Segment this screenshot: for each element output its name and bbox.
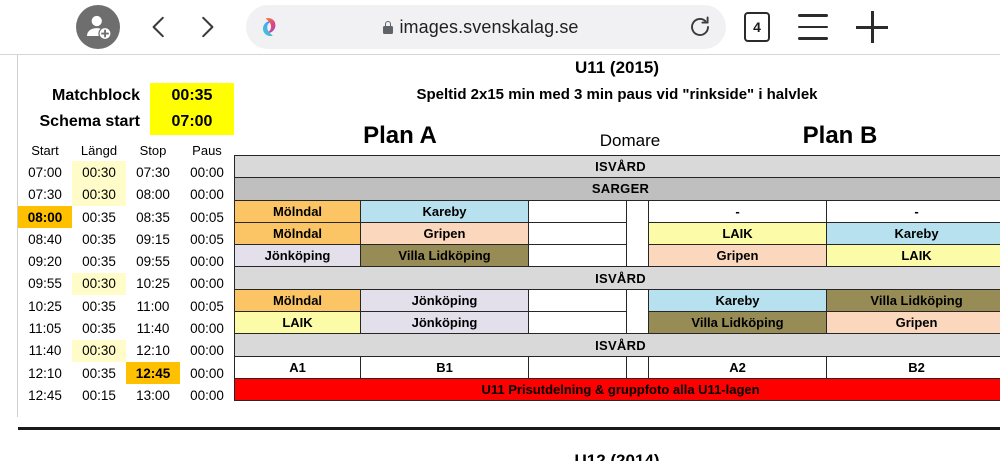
time-table-body: 07:0000:3007:3000:0007:3000:3008:0000:00… bbox=[18, 161, 234, 406]
divider-cell bbox=[627, 289, 649, 311]
schedule-title: U11 (2015) bbox=[234, 58, 1000, 78]
time-table-header-row: StartLängdStopPaus bbox=[18, 139, 234, 161]
time-cell-start: 08:00 bbox=[18, 206, 72, 228]
time-table-row: 07:0000:3007:3000:00 bbox=[18, 161, 234, 183]
time-cell-langd: 00:35 bbox=[72, 250, 126, 272]
profile-add-icon[interactable] bbox=[76, 5, 120, 49]
matchblock-label: Matchblock bbox=[22, 87, 150, 105]
hamburger-menu-icon[interactable] bbox=[798, 14, 828, 40]
plan-b-label: Plan B bbox=[740, 122, 940, 150]
match-row: JönköpingVilla LidköpingGripenLAIK bbox=[235, 245, 1000, 267]
plan-b-home: Villa Lidköping bbox=[649, 312, 827, 334]
time-cell-paus: 00:00 bbox=[180, 362, 234, 384]
plan-b-home: - bbox=[649, 200, 827, 222]
divider-cell bbox=[627, 245, 649, 267]
match-row: MölndalJönköpingKarebyVilla Lidköping bbox=[235, 289, 1000, 311]
time-cell-paus: 00:00 bbox=[180, 340, 234, 362]
copilot-icon[interactable] bbox=[258, 15, 282, 39]
time-cell-stop: 11:40 bbox=[126, 317, 180, 339]
time-table-row: 10:2500:3511:0000:05 bbox=[18, 295, 234, 317]
time-cell-start: 11:40 bbox=[18, 340, 72, 362]
band-row: ISVÅRD bbox=[235, 334, 1000, 356]
plan-a-home: Jönköping bbox=[235, 245, 361, 267]
time-cell-paus: 00:00 bbox=[180, 273, 234, 295]
section-divider bbox=[18, 427, 1000, 430]
time-cell-start: 09:55 bbox=[18, 273, 72, 295]
band-label: ISVÅRD bbox=[235, 334, 1000, 356]
time-cell-paus: 00:05 bbox=[180, 206, 234, 228]
plan-a-home: A1 bbox=[235, 356, 361, 378]
time-table-row: 11:0500:3511:4000:00 bbox=[18, 317, 234, 339]
plan-b-away: Kareby bbox=[827, 222, 1000, 244]
browser-toolbar: images.svenskalag.se 4 bbox=[0, 0, 1000, 55]
plus-icon[interactable] bbox=[856, 11, 888, 43]
time-table: StartLängdStopPaus 07:0000:3007:3000:000… bbox=[18, 139, 234, 407]
time-cell-start: 08:40 bbox=[18, 228, 72, 250]
time-cell-stop: 12:10 bbox=[126, 340, 180, 362]
time-table-row: 09:5500:3010:2500:00 bbox=[18, 273, 234, 295]
time-table-header-1: Längd bbox=[72, 139, 126, 161]
time-cell-paus: 00:00 bbox=[180, 184, 234, 206]
time-table-row: 12:1000:3512:4500:00 bbox=[18, 362, 234, 384]
plan-b-home: LAIK bbox=[649, 222, 827, 244]
match-row: MölndalGripenLAIKKareby bbox=[235, 222, 1000, 244]
time-cell-stop: 12:45 bbox=[126, 362, 180, 384]
plan-b-away: LAIK bbox=[827, 245, 1000, 267]
time-cell-paus: 00:00 bbox=[180, 317, 234, 339]
band-label: SARGER bbox=[235, 178, 1000, 200]
domare-label: Domare bbox=[560, 131, 700, 151]
matchblock-value: 00:35 bbox=[150, 83, 234, 109]
address-bar[interactable]: images.svenskalag.se bbox=[246, 5, 726, 49]
plan-a-label: Plan A bbox=[300, 122, 500, 150]
schedule-grid-body: ISVÅRDSARGERMölndalKareby--MölndalGripen… bbox=[235, 156, 1000, 401]
plan-b-away: - bbox=[827, 200, 1000, 222]
time-table-row: 07:3000:3008:0000:00 bbox=[18, 184, 234, 206]
time-cell-stop: 11:00 bbox=[126, 295, 180, 317]
plan-b-away: Gripen bbox=[827, 312, 1000, 334]
time-table-row: 11:4000:3012:1000:00 bbox=[18, 340, 234, 362]
time-table-row: 09:2000:3509:5500:00 bbox=[18, 250, 234, 272]
time-cell-langd: 00:35 bbox=[72, 317, 126, 339]
time-cell-langd: 00:35 bbox=[72, 228, 126, 250]
matchblock-row: Matchblock 00:35 bbox=[22, 83, 234, 109]
chevron-right-icon[interactable] bbox=[192, 12, 222, 42]
plan-b-away: B2 bbox=[827, 356, 1000, 378]
domare-cell bbox=[529, 245, 627, 267]
match-row: A1B1A2B2 bbox=[235, 356, 1000, 378]
schedule-grid: ISVÅRDSARGERMölndalKareby--MölndalGripen… bbox=[234, 155, 1000, 401]
plan-a-home: Mölndal bbox=[235, 200, 361, 222]
domare-cell bbox=[529, 312, 627, 334]
time-cell-paus: 00:00 bbox=[180, 384, 234, 406]
time-table-header-2: Stop bbox=[126, 139, 180, 161]
time-cell-langd: 00:30 bbox=[72, 184, 126, 206]
time-cell-langd: 00:35 bbox=[72, 206, 126, 228]
plan-b-home: A2 bbox=[649, 356, 827, 378]
time-cell-paus: 00:05 bbox=[180, 228, 234, 250]
domare-cell bbox=[529, 356, 627, 378]
plan-a-away: Jönköping bbox=[361, 289, 529, 311]
divider-cell bbox=[627, 312, 649, 334]
plan-a-home: LAIK bbox=[235, 312, 361, 334]
time-table-row: 08:0000:3508:3500:05 bbox=[18, 206, 234, 228]
time-cell-stop: 13:00 bbox=[126, 384, 180, 406]
time-cell-langd: 00:30 bbox=[72, 161, 126, 183]
plan-a-home: Mölndal bbox=[235, 289, 361, 311]
time-cell-langd: 00:30 bbox=[72, 340, 126, 362]
page-content: Matchblock 00:35 Schema start 07:00 Star… bbox=[0, 55, 1000, 461]
tab-count-button[interactable]: 4 bbox=[744, 12, 770, 42]
time-cell-stop: 07:30 bbox=[126, 161, 180, 183]
time-cell-paus: 00:00 bbox=[180, 161, 234, 183]
reload-icon[interactable] bbox=[680, 7, 720, 47]
time-cell-start: 11:05 bbox=[18, 317, 72, 339]
ceremony-label: U11 Prisutdelning & gruppfoto alla U11-l… bbox=[235, 378, 1000, 400]
time-table-header-3: Paus bbox=[180, 139, 234, 161]
summary-block: Matchblock 00:35 Schema start 07:00 bbox=[22, 83, 234, 135]
plan-a-home: Mölndal bbox=[235, 222, 361, 244]
time-cell-langd: 00:15 bbox=[72, 384, 126, 406]
band-row: ISVÅRD bbox=[235, 156, 1000, 178]
time-cell-paus: 00:05 bbox=[180, 295, 234, 317]
time-cell-langd: 00:35 bbox=[72, 295, 126, 317]
plan-a-away: Villa Lidköping bbox=[361, 245, 529, 267]
next-section-title: U12 (2014) bbox=[234, 451, 1000, 461]
time-cell-stop: 08:35 bbox=[126, 206, 180, 228]
domare-cell bbox=[529, 222, 627, 244]
domare-cell bbox=[529, 200, 627, 222]
match-row: LAIKJönköpingVilla LidköpingGripen bbox=[235, 312, 1000, 334]
band-row: ISVÅRD bbox=[235, 267, 1000, 289]
match-row: MölndalKareby-- bbox=[235, 200, 1000, 222]
divider-cell bbox=[627, 356, 649, 378]
domare-cell bbox=[529, 289, 627, 311]
time-cell-start: 12:45 bbox=[18, 384, 72, 406]
time-cell-start: 12:10 bbox=[18, 362, 72, 384]
band-label: ISVÅRD bbox=[235, 156, 1000, 178]
band-label: ISVÅRD bbox=[235, 267, 1000, 289]
divider-cell bbox=[627, 222, 649, 244]
chevron-left-icon[interactable] bbox=[144, 12, 174, 42]
divider-cell bbox=[627, 200, 649, 222]
time-cell-start: 07:00 bbox=[18, 161, 72, 183]
schedule-subtitle: Speltid 2x15 min med 3 min paus vid "rin… bbox=[234, 86, 1000, 103]
plan-a-away: Kareby bbox=[361, 200, 529, 222]
time-table-row: 08:4000:3509:1500:05 bbox=[18, 228, 234, 250]
time-cell-start: 09:20 bbox=[18, 250, 72, 272]
plan-a-away: Gripen bbox=[361, 222, 529, 244]
plan-b-home: Gripen bbox=[649, 245, 827, 267]
time-cell-start: 07:30 bbox=[18, 184, 72, 206]
url-text[interactable]: images.svenskalag.se bbox=[399, 17, 578, 38]
lock-icon bbox=[383, 21, 393, 34]
plan-b-home: Kareby bbox=[649, 289, 827, 311]
plan-b-away: Villa Lidköping bbox=[827, 289, 1000, 311]
band-row: SARGER bbox=[235, 178, 1000, 200]
time-cell-langd: 00:35 bbox=[72, 362, 126, 384]
time-table-header-0: Start bbox=[18, 139, 72, 161]
ceremony-row: U11 Prisutdelning & gruppfoto alla U11-l… bbox=[235, 378, 1000, 400]
time-cell-stop: 09:15 bbox=[126, 228, 180, 250]
time-cell-start: 10:25 bbox=[18, 295, 72, 317]
time-cell-stop: 08:00 bbox=[126, 184, 180, 206]
schema-start-value: 07:00 bbox=[150, 109, 234, 135]
schema-start-label: Schema start bbox=[22, 113, 150, 131]
time-cell-stop: 09:55 bbox=[126, 250, 180, 272]
schema-start-row: Schema start 07:00 bbox=[22, 109, 234, 135]
time-cell-langd: 00:30 bbox=[72, 273, 126, 295]
time-cell-paus: 00:00 bbox=[180, 250, 234, 272]
time-table-row: 12:4500:1513:0000:00 bbox=[18, 384, 234, 406]
plan-a-away: Jönköping bbox=[361, 312, 529, 334]
plan-a-away: B1 bbox=[361, 356, 529, 378]
time-cell-stop: 10:25 bbox=[126, 273, 180, 295]
